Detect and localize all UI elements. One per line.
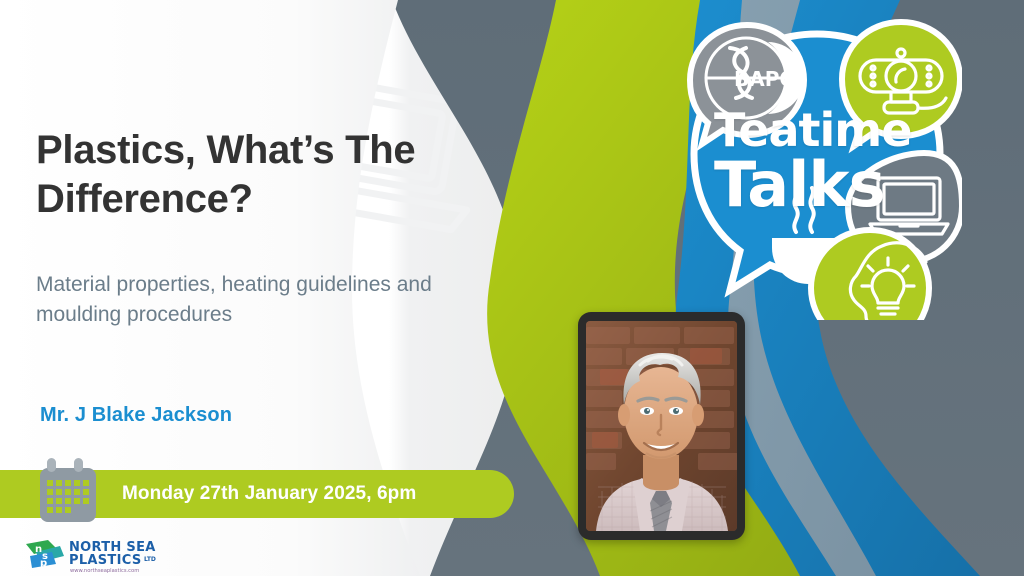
logo-suffix: LTD [144, 556, 156, 563]
bapo-label: BAPO [734, 67, 796, 91]
speaker-photo [586, 321, 737, 531]
calendar-icon [38, 458, 100, 524]
talks-word: Talks [714, 148, 885, 221]
page-title: Plastics, What’s The Difference? [36, 126, 506, 224]
svg-text:p: p [40, 558, 47, 569]
event-date: Monday 27th January 2025, 6pm [122, 483, 416, 505]
logo-website: www.northseaplastics.com [70, 568, 139, 574]
speaker-name: Mr. J Blake Jackson [40, 404, 232, 427]
logo-line-2: PLASTICS [69, 553, 141, 568]
nsp-monogram-icon: n s p [26, 540, 64, 569]
teatime-talks-event-poster: Plastics, What’s The Difference? Materia… [0, 0, 1024, 576]
speaker-photo-frame [578, 312, 745, 540]
teatime-talks-logo: BAPO [672, 8, 962, 320]
subtitle: Material properties, heating guidelines … [36, 270, 496, 330]
lightbulb-head-bubble [811, 230, 929, 320]
north-sea-plastics-logo: n s p NORTH SEA PLASTICS LTD www.northse… [22, 534, 172, 574]
